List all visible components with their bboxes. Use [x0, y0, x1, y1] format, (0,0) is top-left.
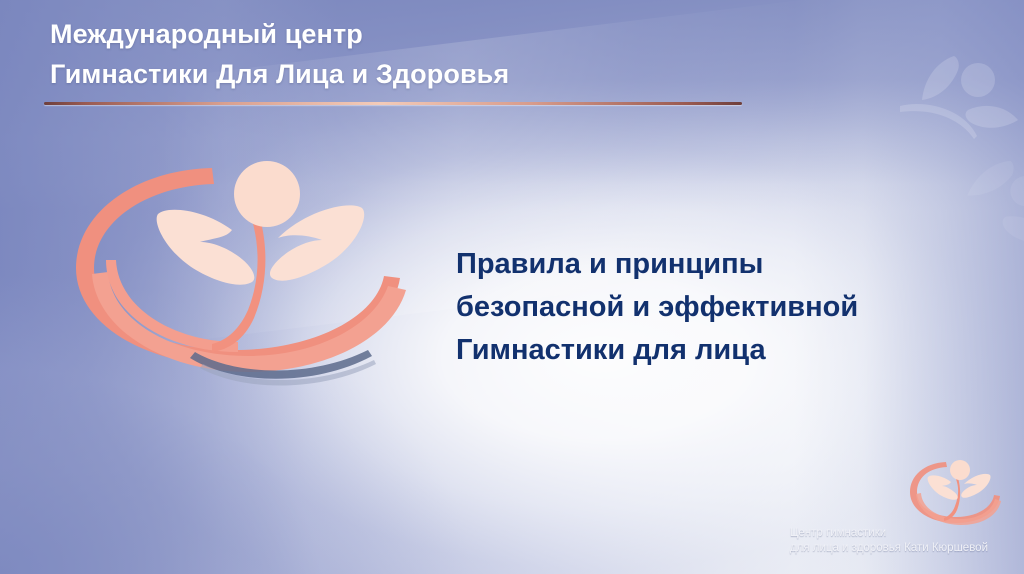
- footer-sprout-swoosh-logo-icon: [906, 456, 1002, 536]
- main-text-line-1: Правила и принципы: [456, 243, 976, 286]
- slide-header: Международный центр Гимнастики Для Лица …: [50, 14, 770, 94]
- header-line-1: Международный центр: [50, 14, 770, 54]
- footer-caption: Центр гимнастики для лица и здоровья Кат…: [790, 526, 988, 556]
- main-text-line-2: безопасной и эффективной: [456, 286, 976, 329]
- presentation-slide: Международный центр Гимнастики Для Лица …: [0, 0, 1024, 574]
- footer-caption-line-1: Центр гимнастики: [790, 526, 988, 541]
- slide-main-text: Правила и принципы безопасной и эффектив…: [456, 243, 976, 372]
- main-text-line-3: Гимнастики для лица: [456, 329, 976, 372]
- footer-caption-line-2: для лица и здоровья Кати Кюршевой: [790, 541, 988, 556]
- sprout-swoosh-logo-icon: [62, 152, 422, 404]
- header-divider: [44, 102, 742, 105]
- header-line-2: Гимнастики Для Лица и Здоровья: [50, 54, 770, 94]
